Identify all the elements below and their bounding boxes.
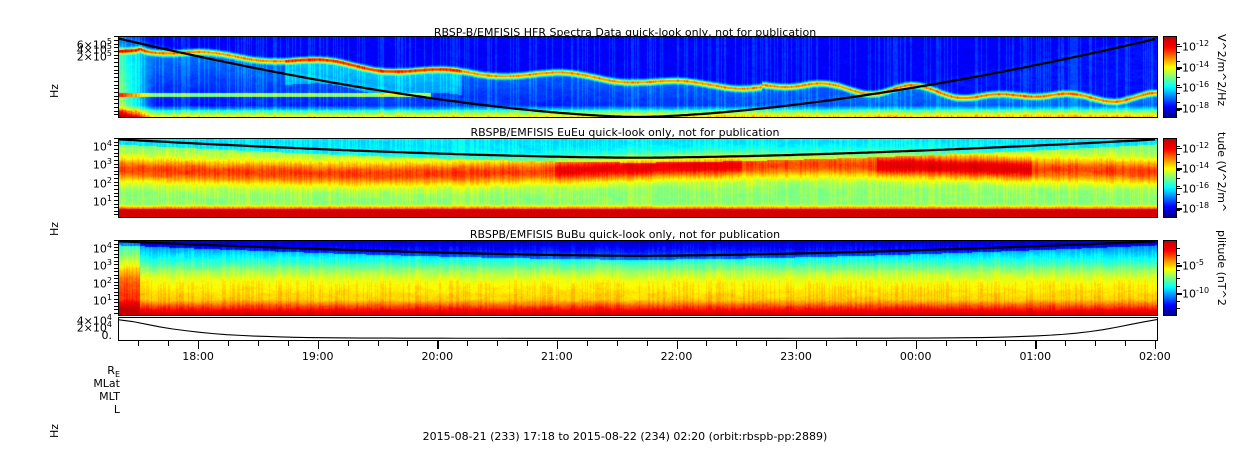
- x-major-tick: [1155, 341, 1156, 349]
- x-minor-tick: [856, 341, 857, 346]
- x-minor-tick: [527, 341, 528, 346]
- x-tick-label: 22:00: [655, 350, 699, 363]
- y-minor-tick: [114, 178, 118, 179]
- x-minor-tick: [1125, 341, 1126, 346]
- panel-bubu-yaxis: Hz 104103102101: [40, 240, 118, 316]
- y-minor-tick: [114, 313, 118, 314]
- y-minor-tick: [114, 275, 118, 276]
- y-minor-tick: [114, 292, 118, 293]
- panel-density-yaxis: 4×1042×1040.: [36, 317, 118, 341]
- y-minor-tick: [114, 81, 118, 82]
- x-minor-tick: [886, 341, 887, 346]
- x-minor-tick: [497, 341, 498, 346]
- colorbar-minor-tick: [1177, 286, 1180, 287]
- y-tick-label-density: 0.: [102, 329, 113, 342]
- y-minor-tick: [114, 295, 118, 296]
- y-minor-tick: [114, 103, 118, 104]
- x-minor-tick: [138, 341, 139, 346]
- y-minor-tick: [114, 107, 118, 108]
- x-minor-tick: [348, 341, 349, 346]
- y-minor-tick: [114, 153, 118, 154]
- panel-hfr-ylabel: Hz: [48, 84, 61, 98]
- y-minor-tick: [114, 66, 118, 67]
- y-tick-label: 102: [93, 176, 112, 191]
- panel-eueu-plot-area: [118, 138, 1158, 218]
- footer-row-label: RE: [30, 364, 120, 377]
- x-major-tick: [796, 341, 797, 349]
- colorbar-tick-label: 10-14: [1182, 60, 1209, 75]
- colorbar-minor-tick: [1177, 77, 1180, 78]
- figure-caption: 2015-08-21 (233) 17:18 to 2015-08-22 (23…: [0, 430, 1250, 443]
- y-minor-tick: [114, 164, 118, 165]
- y-minor-tick: [114, 244, 118, 245]
- colorbar-tick-label: 10-14: [1182, 161, 1209, 176]
- colorbar-minor-tick: [1177, 93, 1180, 94]
- footer-row-label: MLT: [30, 390, 120, 403]
- footer-row-label: L: [30, 403, 120, 416]
- y-tick-label: 103: [93, 258, 112, 273]
- y-minor-tick: [114, 189, 118, 190]
- panel-density-plot-area: [118, 317, 1158, 341]
- x-minor-tick: [1065, 341, 1066, 346]
- y-minor-tick: [114, 254, 118, 255]
- colorbar-minor-tick: [1177, 263, 1180, 264]
- y-minor-tick: [114, 247, 118, 248]
- colorbar-minor-tick: [1177, 170, 1180, 171]
- colorbar-tick-label: 10-16: [1182, 181, 1209, 196]
- x-minor-tick: [736, 341, 737, 346]
- x-major-tick: [916, 341, 917, 349]
- colorbar-hfr-ticks: 10-1210-1410-1610-18: [1177, 36, 1239, 118]
- y-minor-tick: [114, 51, 118, 52]
- y-tick-label: 104: [93, 139, 112, 154]
- x-minor-tick: [228, 341, 229, 346]
- colorbar-tick-mark: [1177, 148, 1182, 150]
- y-minor-tick: [114, 44, 118, 45]
- colorbar-minor-tick: [1177, 210, 1180, 211]
- footer-row-label: MLat: [30, 377, 120, 390]
- x-minor-tick: [766, 341, 767, 346]
- y-minor-tick: [114, 268, 118, 269]
- y-minor-tick: [114, 257, 118, 258]
- y-minor-tick: [114, 36, 118, 37]
- y-minor-tick: [114, 85, 118, 86]
- x-axis: 18:0019:0020:0021:0022:0023:0000:0001:00…: [118, 341, 1158, 363]
- x-tick-label: 21:00: [535, 350, 579, 363]
- colorbar-minor-tick: [1177, 52, 1180, 53]
- y-tick-label: 101: [93, 293, 112, 308]
- x-minor-tick: [407, 341, 408, 346]
- colorbar-minor-tick: [1177, 194, 1180, 195]
- colorbar-bubu-units: plitude (nT^2: [1215, 230, 1228, 306]
- colorbar-tick-mark: [1177, 46, 1182, 48]
- colorbar-tick-label: 10-18: [1182, 101, 1209, 116]
- y-minor-tick: [114, 47, 118, 48]
- y-minor-tick: [114, 185, 118, 186]
- y-minor-tick: [114, 40, 118, 41]
- y-minor-tick: [114, 70, 118, 71]
- y-minor-tick: [114, 306, 118, 307]
- colorbar-minor-tick: [1177, 186, 1180, 187]
- y-minor-tick: [114, 142, 118, 143]
- y-minor-tick: [114, 302, 118, 303]
- colorbar-minor-tick: [1177, 61, 1180, 62]
- x-tick-label: 20:00: [415, 350, 459, 363]
- colorbar-eueu-units: tude (V^2/m^: [1215, 132, 1228, 212]
- y-minor-tick: [114, 114, 118, 115]
- x-major-tick: [557, 341, 558, 349]
- colorbar-minor-tick: [1177, 278, 1180, 279]
- colorbar-hfr-units: V^2/m^2/Hz: [1215, 34, 1228, 106]
- y-tick-label: 103: [93, 157, 112, 172]
- y-minor-tick: [114, 204, 118, 205]
- y-minor-tick: [114, 92, 118, 93]
- panel-eueu-yaxis: Hz 104103102101: [40, 138, 118, 218]
- y-minor-tick: [114, 214, 118, 215]
- colorbar-minor-tick: [1177, 301, 1180, 302]
- colorbar-minor-tick: [1177, 162, 1180, 163]
- gyrofrequency-overlay-eueu: [119, 139, 1157, 217]
- y-minor-tick: [114, 149, 118, 150]
- colorbar-bubu-ticks: 10-510-10: [1177, 240, 1239, 316]
- x-minor-tick: [617, 341, 618, 346]
- y-minor-tick: [114, 182, 118, 183]
- colorbar-tick-mark: [1177, 87, 1182, 89]
- colorbar-minor-tick: [1177, 44, 1180, 45]
- x-tick-label: 18:00: [176, 350, 220, 363]
- x-major-tick: [318, 341, 319, 349]
- colorbar-minor-tick: [1177, 270, 1180, 271]
- x-minor-tick: [587, 341, 588, 346]
- y-minor-tick: [114, 207, 118, 208]
- y-minor-tick: [114, 282, 118, 283]
- colorbar-tick-label: 10-12: [1182, 141, 1209, 156]
- x-major-tick: [437, 341, 438, 349]
- y-minor-tick: [114, 261, 118, 262]
- panel-hfr-plot-area: [118, 36, 1158, 118]
- colorbar-hfr: [1163, 36, 1177, 118]
- panel-bubu-plot-area: [118, 240, 1158, 316]
- colorbar-tick-mark: [1177, 265, 1182, 267]
- colorbar-minor-tick: [1177, 255, 1180, 256]
- x-minor-tick: [288, 341, 289, 346]
- colorbar-minor-tick: [1177, 146, 1180, 147]
- y-minor-tick: [114, 193, 118, 194]
- y-minor-tick: [114, 250, 118, 251]
- y-minor-tick: [114, 73, 118, 74]
- y-minor-tick: [114, 99, 118, 100]
- colorbar-minor-tick: [1177, 110, 1180, 111]
- y-minor-tick: [114, 77, 118, 78]
- y-minor-tick: [114, 285, 118, 286]
- gyrofrequency-overlay-bubu: [119, 241, 1157, 315]
- colorbar-tick-label: 10-5: [1182, 258, 1204, 273]
- y-minor-tick: [114, 145, 118, 146]
- y-minor-tick: [114, 88, 118, 89]
- colorbar-minor-tick: [1177, 308, 1180, 309]
- footer-axis-labels: REMLatMLTL: [30, 364, 120, 416]
- colorbar-minor-tick: [1177, 69, 1180, 70]
- y-minor-tick: [114, 288, 118, 289]
- x-major-tick: [198, 341, 199, 349]
- x-minor-tick: [706, 341, 707, 346]
- y-minor-tick: [114, 240, 118, 241]
- y-minor-tick: [114, 309, 118, 310]
- x-tick-label: 01:00: [1013, 350, 1057, 363]
- y-minor-tick: [114, 55, 118, 56]
- y-minor-tick: [114, 167, 118, 168]
- colorbar-tick-label: 10-16: [1182, 80, 1209, 95]
- colorbar-tick-label: 10-12: [1182, 39, 1209, 54]
- colorbar-minor-tick: [1177, 154, 1180, 155]
- x-minor-tick: [467, 341, 468, 346]
- x-minor-tick: [378, 341, 379, 346]
- x-minor-tick: [976, 341, 977, 346]
- x-major-tick: [677, 341, 678, 349]
- colorbar-minor-tick: [1177, 102, 1180, 103]
- colorbar-minor-tick: [1177, 85, 1180, 86]
- y-minor-tick: [114, 174, 118, 175]
- y-minor-tick: [114, 278, 118, 279]
- x-minor-tick: [1005, 341, 1006, 346]
- colorbar-minor-tick: [1177, 202, 1180, 203]
- x-minor-tick: [1095, 341, 1096, 346]
- y-minor-tick: [114, 299, 118, 300]
- colorbar-tick-label: 10-10: [1182, 286, 1209, 301]
- y-tick-label: 104: [93, 241, 112, 256]
- y-tick-label: 102: [93, 276, 112, 291]
- y-minor-tick: [114, 138, 118, 139]
- x-minor-tick: [258, 341, 259, 346]
- colorbar-tick-mark: [1177, 188, 1182, 190]
- colorbar-minor-tick: [1177, 248, 1180, 249]
- y-minor-tick: [114, 58, 118, 59]
- panel-hfr-yaxis: Hz 6×1054×1052×105: [40, 36, 118, 118]
- y-minor-tick: [114, 264, 118, 265]
- x-minor-tick: [647, 341, 648, 346]
- y-tick-label: 101: [93, 194, 112, 209]
- y-minor-tick: [114, 62, 118, 63]
- x-tick-label: 00:00: [894, 350, 938, 363]
- colorbar-eueu: [1163, 138, 1177, 218]
- colorbar-minor-tick: [1177, 178, 1180, 179]
- y-minor-tick: [114, 211, 118, 212]
- colorbar-tick-label: 10-18: [1182, 201, 1209, 216]
- y-minor-tick: [114, 171, 118, 172]
- colorbar-eueu-ticks: 10-1210-1410-1610-18: [1177, 138, 1239, 218]
- y-minor-tick: [114, 200, 118, 201]
- x-major-tick: [1035, 341, 1036, 349]
- y-minor-tick: [114, 196, 118, 197]
- colorbar-bubu: [1163, 240, 1177, 316]
- y-minor-tick: [114, 111, 118, 112]
- x-minor-tick: [168, 341, 169, 346]
- gyrofrequency-overlay-hfr: [119, 37, 1157, 117]
- y-minor-tick: [114, 96, 118, 97]
- colorbar-minor-tick: [1177, 293, 1180, 294]
- x-tick-label: 19:00: [296, 350, 340, 363]
- y-tick-label: 2×105: [77, 49, 112, 64]
- y-minor-tick: [114, 156, 118, 157]
- y-minor-tick: [114, 160, 118, 161]
- x-tick-label: 02:00: [1133, 350, 1177, 363]
- y-minor-tick: [114, 271, 118, 272]
- x-tick-label: 23:00: [774, 350, 818, 363]
- x-minor-tick: [946, 341, 947, 346]
- x-minor-tick: [826, 341, 827, 346]
